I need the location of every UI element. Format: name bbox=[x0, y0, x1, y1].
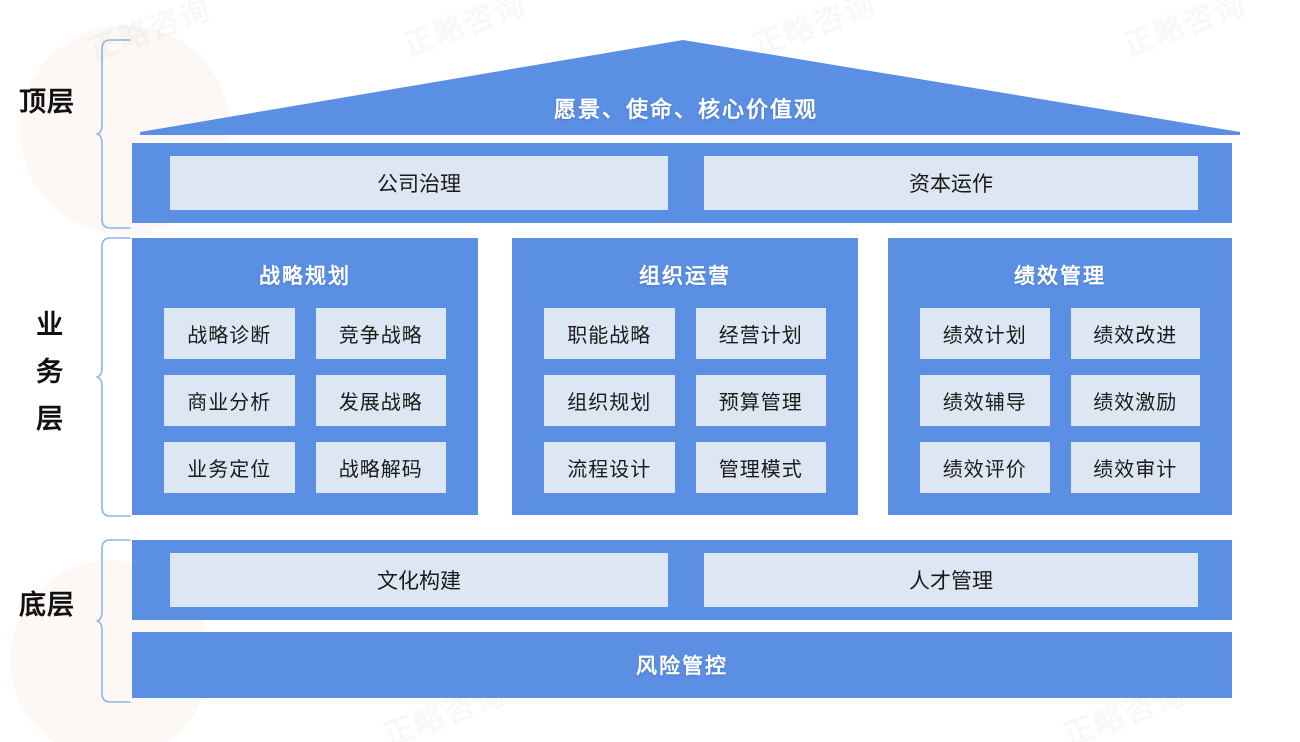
diagram-canvas: 正略咨询 正略咨询 正略咨询 正略咨询 正略咨询 正略咨询 顶层 业务层 底层 … bbox=[0, 0, 1300, 742]
business-cell[interactable]: 预算管理 bbox=[696, 375, 827, 426]
roof-label: 愿景、使命、核心价值观 bbox=[132, 92, 1240, 124]
roof-shape: 愿景、使命、核心价值观 bbox=[132, 40, 1240, 135]
top-layer-band: 公司治理 资本运作 bbox=[132, 143, 1232, 223]
bottom-layer-item-0[interactable]: 文化构建 bbox=[170, 553, 668, 607]
business-column-grid: 职能战略 经营计划 组织规划 预算管理 流程设计 管理模式 bbox=[544, 308, 826, 493]
business-cell[interactable]: 绩效审计 bbox=[1071, 442, 1201, 493]
bottom-layer-band: 文化构建 人才管理 bbox=[132, 540, 1232, 620]
business-column-grid: 战略诊断 竞争战略 商业分析 发展战略 业务定位 战略解码 bbox=[164, 308, 446, 493]
business-cell[interactable]: 竞争战略 bbox=[316, 308, 447, 359]
layer-label-business: 业务层 bbox=[18, 310, 76, 451]
layer-label-bottom-text: 底层 bbox=[18, 587, 76, 623]
business-cell[interactable]: 业务定位 bbox=[164, 442, 295, 493]
foundation-band: 风险管控 bbox=[132, 632, 1232, 698]
brace-business bbox=[96, 236, 132, 518]
business-column-strategy: 战略规划 战略诊断 竞争战略 商业分析 发展战略 业务定位 战略解码 bbox=[132, 238, 478, 515]
top-layer-item-1[interactable]: 资本运作 bbox=[704, 156, 1198, 210]
business-column-title: 绩效管理 bbox=[888, 260, 1232, 290]
business-cell[interactable]: 绩效评价 bbox=[920, 442, 1050, 493]
layer-label-bottom: 底层 bbox=[18, 587, 76, 623]
top-layer-item-0[interactable]: 公司治理 bbox=[170, 156, 668, 210]
business-cell[interactable]: 绩效辅导 bbox=[920, 375, 1050, 426]
layer-label-business-text: 业务层 bbox=[29, 310, 65, 451]
business-column-title: 战略规划 bbox=[132, 260, 478, 290]
business-cell[interactable]: 管理模式 bbox=[696, 442, 827, 493]
business-column-grid: 绩效计划 绩效改进 绩效辅导 绩效激励 绩效评价 绩效审计 bbox=[920, 308, 1200, 493]
business-column-performance: 绩效管理 绩效计划 绩效改进 绩效辅导 绩效激励 绩效评价 绩效审计 bbox=[888, 238, 1232, 515]
layer-label-top: 顶层 bbox=[18, 84, 76, 120]
business-cell[interactable]: 组织规划 bbox=[544, 375, 675, 426]
business-cell[interactable]: 流程设计 bbox=[544, 442, 675, 493]
business-cell[interactable]: 绩效计划 bbox=[920, 308, 1050, 359]
business-cell[interactable]: 战略诊断 bbox=[164, 308, 295, 359]
business-cell[interactable]: 战略解码 bbox=[316, 442, 447, 493]
brace-top bbox=[96, 38, 132, 230]
bottom-layer-item-1[interactable]: 人才管理 bbox=[704, 553, 1198, 607]
business-cell[interactable]: 绩效改进 bbox=[1071, 308, 1201, 359]
business-cell[interactable]: 商业分析 bbox=[164, 375, 295, 426]
brace-bottom bbox=[96, 538, 132, 704]
business-cell[interactable]: 绩效激励 bbox=[1071, 375, 1201, 426]
layer-label-top-text: 顶层 bbox=[18, 84, 76, 120]
business-cell[interactable]: 发展战略 bbox=[316, 375, 447, 426]
business-column-operations: 组织运营 职能战略 经营计划 组织规划 预算管理 流程设计 管理模式 bbox=[512, 238, 858, 515]
business-cell[interactable]: 经营计划 bbox=[696, 308, 827, 359]
foundation-label: 风险管控 bbox=[132, 650, 1232, 680]
business-cell[interactable]: 职能战略 bbox=[544, 308, 675, 359]
business-column-title: 组织运营 bbox=[512, 260, 858, 290]
